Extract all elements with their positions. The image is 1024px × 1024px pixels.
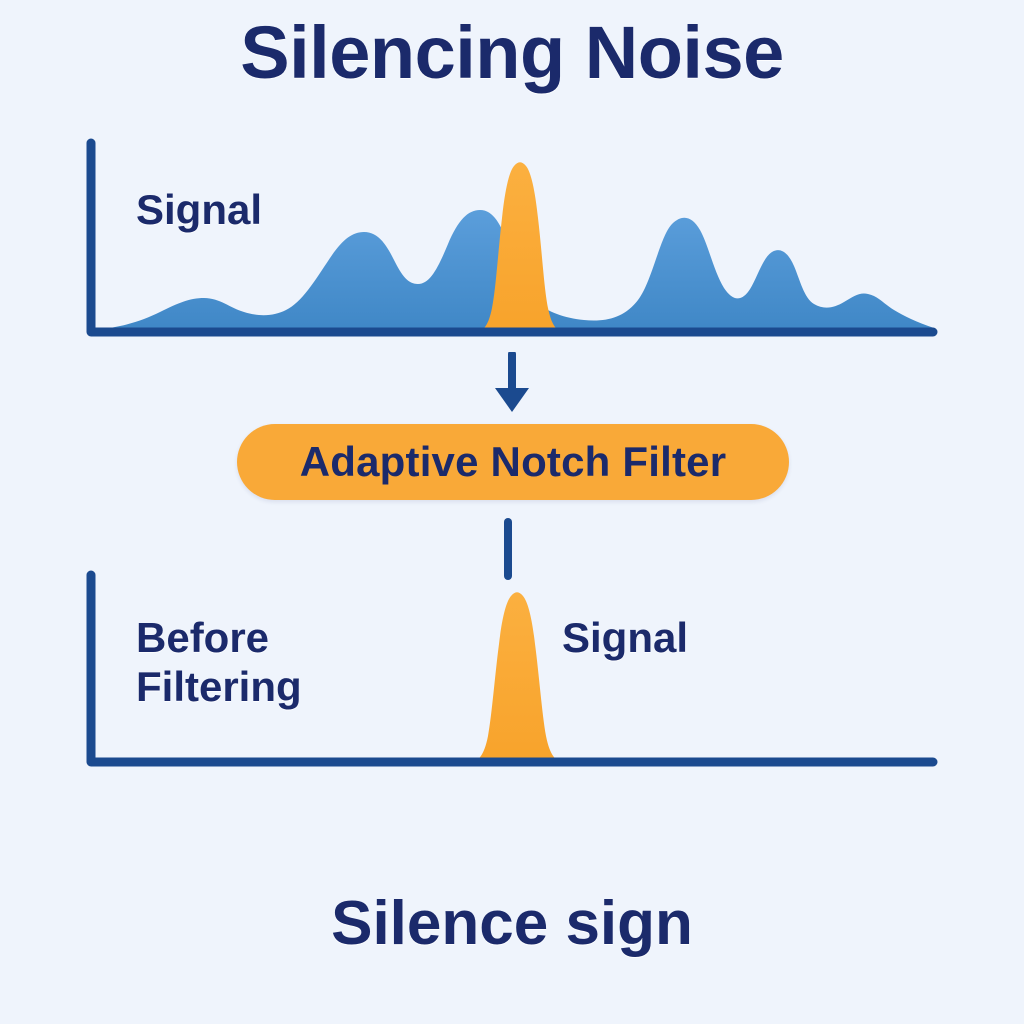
filter-block-label: Adaptive Notch Filter <box>300 438 727 486</box>
chart-label-before-filtering: Before Filtering <box>136 614 302 711</box>
diagram-canvas: Silencing Noise Signal <box>0 0 1024 1024</box>
adaptive-notch-filter-block[interactable]: Adaptive Notch Filter <box>237 424 789 500</box>
chart-spectrum-before <box>78 132 948 352</box>
signal-peak-bottom <box>470 592 564 762</box>
chart-label-signal-top: Signal <box>136 186 262 235</box>
page-caption: Silence sign <box>0 890 1024 958</box>
chart-label-signal-bottom: Signal <box>562 614 688 663</box>
page-title: Silencing Noise <box>0 12 1024 93</box>
arrow-down-icon <box>487 352 537 419</box>
